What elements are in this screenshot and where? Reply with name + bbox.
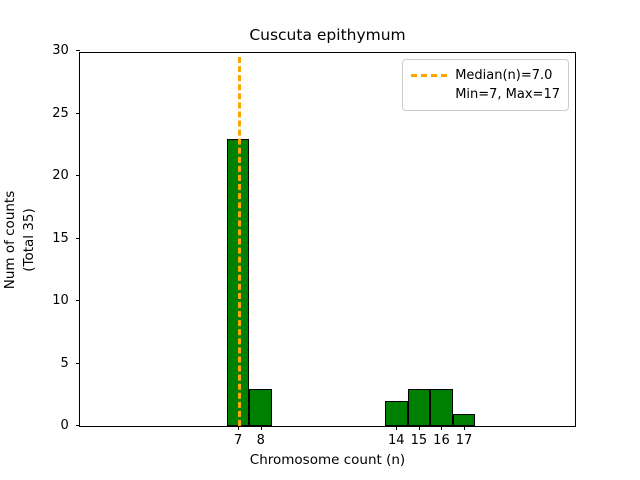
x-axis-tick: [441, 426, 442, 430]
x-axis-tick-label: 16: [433, 432, 450, 450]
legend-item-minmax: Min=7, Max=17: [411, 85, 560, 104]
histogram-bar: [385, 401, 408, 426]
x-axis-tick: [396, 426, 397, 430]
x-axis-tick-label: 15: [411, 432, 428, 450]
histogram-bar: [249, 389, 272, 427]
x-axis-tick: [238, 426, 239, 430]
x-axis-tick: [261, 426, 262, 430]
dashed-line-icon: [411, 66, 447, 85]
y-axis-tick: 20: [76, 175, 80, 176]
y-axis-tick-label: 30: [52, 42, 69, 60]
y-axis-tick: 15: [76, 238, 80, 239]
x-axis-tick: [464, 426, 465, 430]
blank-marker-icon: [411, 85, 447, 104]
y-axis-label-line1: Num of counts: [1, 190, 20, 289]
y-axis-tick-label: 5: [61, 355, 69, 373]
x-axis-tick-label: 17: [456, 432, 473, 450]
x-axis-tick-label: 14: [388, 432, 405, 450]
x-axis-label: Chromosome count (n): [79, 452, 576, 469]
chart-figure: Cuscuta epithymum Num of counts (Total 3…: [0, 0, 640, 480]
histogram-bar: [430, 389, 453, 427]
y-axis-label-text: Num of counts (Total 35): [1, 190, 39, 289]
legend-label-median: Median(n)=7.0: [455, 66, 552, 85]
plot-area: 0510152025307814151617 Median(n)=7.0 Min…: [79, 52, 576, 427]
legend: Median(n)=7.0 Min=7, Max=17: [402, 59, 569, 111]
page-title: Cuscuta epithymum: [79, 26, 576, 44]
y-axis-tick: 30: [76, 50, 80, 51]
histogram-bar: [453, 414, 476, 427]
y-axis-tick-label: 15: [52, 230, 69, 248]
x-axis-tick: [419, 426, 420, 430]
y-axis-label-line2: (Total 35): [20, 190, 39, 289]
y-axis-tick-label: 10: [52, 292, 69, 310]
x-axis-tick-label: 8: [257, 432, 265, 450]
y-axis-label: Num of counts (Total 35): [0, 52, 40, 427]
y-axis-tick: 25: [76, 113, 80, 114]
y-axis-tick-label: 25: [52, 105, 69, 123]
x-axis-tick-label: 7: [234, 432, 242, 450]
legend-label-minmax: Min=7, Max=17: [455, 85, 560, 104]
y-axis-tick-label: 0: [61, 417, 69, 435]
y-axis-tick: 0: [76, 425, 80, 426]
median-line: [238, 57, 241, 426]
y-axis-tick: 10: [76, 300, 80, 301]
legend-item-median: Median(n)=7.0: [411, 66, 560, 85]
histogram-bar: [408, 389, 431, 427]
y-axis-tick: 5: [76, 363, 80, 364]
y-axis-tick-label: 20: [52, 167, 69, 185]
